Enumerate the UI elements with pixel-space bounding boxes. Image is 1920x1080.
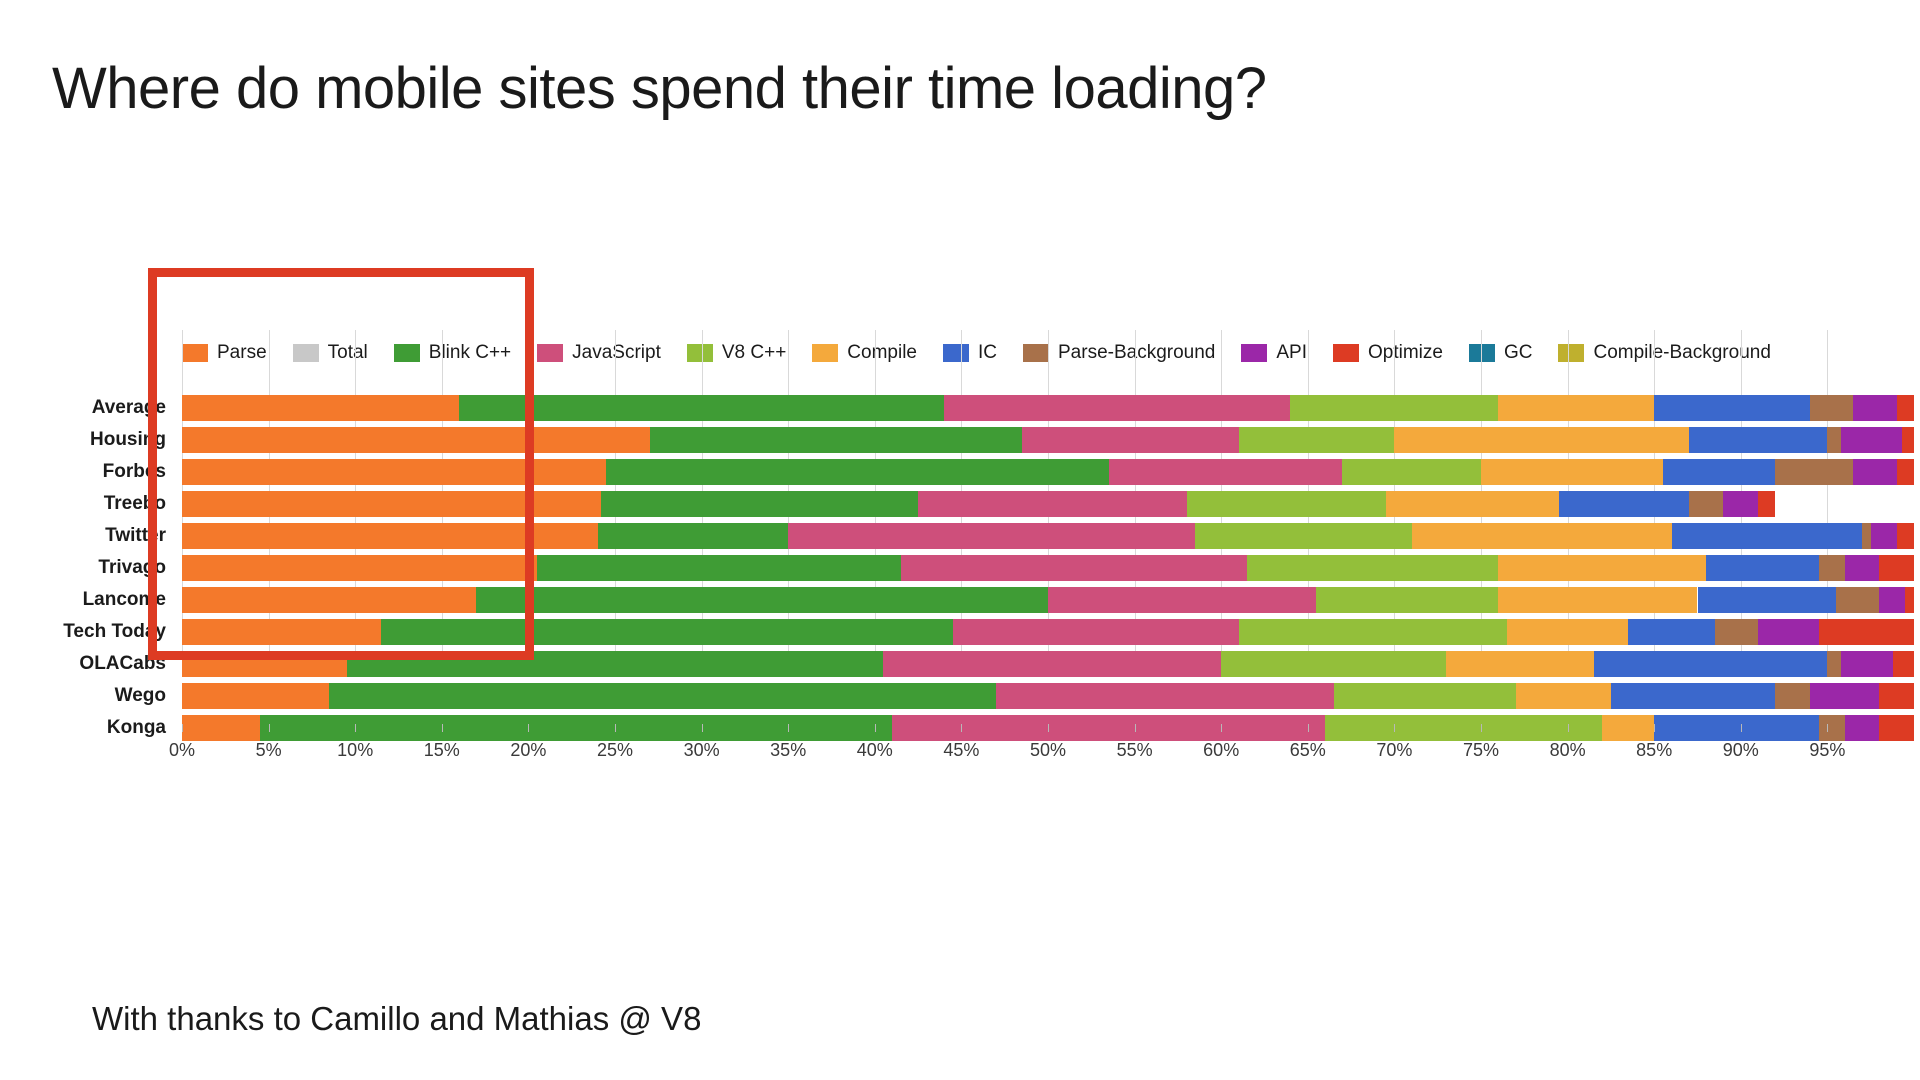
bar-segment bbox=[1481, 459, 1663, 485]
bar-segment bbox=[1775, 459, 1853, 485]
bar-segment bbox=[788, 523, 1195, 549]
x-axis-tick-mark bbox=[442, 724, 443, 732]
bar-segment bbox=[1879, 683, 1914, 709]
stacked-bar bbox=[182, 683, 1914, 709]
y-axis-tick-label: Forbes bbox=[0, 456, 178, 488]
bar-segment bbox=[1048, 587, 1316, 613]
bar-row bbox=[182, 648, 1914, 680]
stacked-bar bbox=[182, 587, 1914, 613]
x-axis-tick-mark bbox=[961, 724, 962, 732]
bar-segment bbox=[1446, 651, 1593, 677]
bar-segment bbox=[1871, 523, 1897, 549]
bar-segment bbox=[182, 523, 598, 549]
bar-segment bbox=[953, 619, 1239, 645]
bar-segment bbox=[883, 651, 1221, 677]
x-axis-tick-label: 75% bbox=[1463, 740, 1499, 761]
bar-row bbox=[182, 488, 1914, 520]
bar-segment bbox=[918, 491, 1186, 517]
x-axis-tick-mark bbox=[875, 724, 876, 732]
page-title: Where do mobile sites spend their time l… bbox=[52, 55, 1267, 122]
bar-segment bbox=[1221, 651, 1446, 677]
bar-segment bbox=[1841, 651, 1893, 677]
bar-row bbox=[182, 552, 1914, 584]
x-axis-tick-label: 10% bbox=[337, 740, 373, 761]
stacked-bar bbox=[182, 459, 1914, 485]
bar-segment bbox=[650, 427, 1022, 453]
y-axis-tick-label: Wego bbox=[0, 680, 178, 712]
y-axis-labels: AverageHousingForbesTreeboTwitterTrivago… bbox=[0, 392, 178, 744]
x-axis-tick-label: 5% bbox=[256, 740, 282, 761]
bar-segment bbox=[601, 491, 918, 517]
x-axis-tick-label: 95% bbox=[1809, 740, 1845, 761]
bar-segment bbox=[1879, 555, 1914, 581]
bar-row bbox=[182, 392, 1914, 424]
bar-segment bbox=[182, 555, 537, 581]
stacked-bar bbox=[182, 491, 1914, 517]
x-axis-tick-mark bbox=[269, 724, 270, 732]
stacked-bar bbox=[182, 427, 1914, 453]
bar-segment bbox=[1715, 619, 1758, 645]
bar-segment bbox=[1698, 587, 1837, 613]
bar-segment bbox=[1316, 587, 1498, 613]
bar-segment bbox=[1836, 587, 1879, 613]
bar-segment bbox=[182, 491, 601, 517]
stacked-bar bbox=[182, 619, 1914, 645]
bar-segment bbox=[1723, 491, 1758, 517]
bar-segment bbox=[1905, 587, 1914, 613]
bar-segment bbox=[1827, 427, 1841, 453]
x-axis-tick-label: 70% bbox=[1376, 740, 1412, 761]
bar-segment bbox=[182, 427, 650, 453]
x-axis-tick-label: 0% bbox=[169, 740, 195, 761]
bar-row bbox=[182, 456, 1914, 488]
bar-segment bbox=[1498, 395, 1654, 421]
bar-segment bbox=[1507, 619, 1628, 645]
bar-segment bbox=[996, 683, 1334, 709]
bar-segment bbox=[329, 683, 996, 709]
bar-rows bbox=[182, 392, 1914, 744]
y-axis-tick-label: Housing bbox=[0, 424, 178, 456]
y-axis-tick-label: OLACabs bbox=[0, 648, 178, 680]
x-axis-tick-mark bbox=[1308, 724, 1309, 732]
bar-segment bbox=[1810, 683, 1879, 709]
bar-row bbox=[182, 584, 1914, 616]
x-axis-tick-mark bbox=[1394, 724, 1395, 732]
x-axis-tick-label: 80% bbox=[1550, 740, 1586, 761]
bar-segment bbox=[1827, 651, 1841, 677]
bar-segment bbox=[901, 555, 1247, 581]
bar-segment bbox=[459, 395, 944, 421]
bar-segment bbox=[1897, 395, 1914, 421]
bar-segment bbox=[1758, 491, 1775, 517]
bar-row bbox=[182, 424, 1914, 456]
bar-segment bbox=[1689, 491, 1724, 517]
bar-segment bbox=[1342, 459, 1481, 485]
x-axis-tick-mark bbox=[1568, 724, 1569, 732]
bar-segment bbox=[1897, 459, 1914, 485]
bar-row bbox=[182, 616, 1914, 648]
y-axis-tick-label: Average bbox=[0, 392, 178, 424]
bar-segment bbox=[1819, 555, 1845, 581]
stacked-bar bbox=[182, 651, 1914, 677]
x-axis-tick-mark bbox=[1827, 724, 1828, 732]
x-axis-tick-mark bbox=[1135, 724, 1136, 732]
bar-segment bbox=[1853, 459, 1896, 485]
stacked-bar bbox=[182, 555, 1914, 581]
bar-segment bbox=[1810, 395, 1853, 421]
bar-segment bbox=[182, 651, 347, 677]
bar-segment bbox=[182, 587, 476, 613]
y-axis-tick-label: Treebo bbox=[0, 488, 178, 520]
x-axis-tick-mark bbox=[1221, 724, 1222, 732]
footer-credit: With thanks to Camillo and Mathias @ V8 bbox=[92, 1000, 701, 1038]
x-axis-tick-label: 85% bbox=[1636, 740, 1672, 761]
bar-segment bbox=[944, 395, 1290, 421]
y-axis-tick-label: Trivago bbox=[0, 552, 178, 584]
bar-segment bbox=[1689, 427, 1828, 453]
x-axis-tick-mark bbox=[1481, 724, 1482, 732]
bar-segment bbox=[476, 587, 1048, 613]
bar-segment bbox=[381, 619, 953, 645]
x-axis-tick-label: 45% bbox=[943, 740, 979, 761]
bar-segment bbox=[1109, 459, 1343, 485]
bar-segment bbox=[1758, 619, 1819, 645]
bar-segment bbox=[1412, 523, 1672, 549]
y-axis-tick-label: Lancome bbox=[0, 584, 178, 616]
bar-segment bbox=[1628, 619, 1715, 645]
x-axis: 0%5%10%15%20%25%30%35%40%45%50%55%60%65%… bbox=[182, 732, 1914, 772]
x-axis-tick-mark bbox=[1048, 724, 1049, 732]
stacked-bar-chart: ParseTotalBlink C++JavaScriptV8 C++Compi… bbox=[0, 330, 1920, 770]
bar-row bbox=[182, 520, 1914, 552]
bar-segment bbox=[1893, 651, 1914, 677]
bar-segment bbox=[1879, 587, 1905, 613]
x-axis-tick-label: 20% bbox=[510, 740, 546, 761]
bar-segment bbox=[1706, 555, 1819, 581]
bar-segment bbox=[1862, 523, 1871, 549]
x-axis-tick-label: 90% bbox=[1723, 740, 1759, 761]
bar-segment bbox=[347, 651, 884, 677]
x-axis-tick-mark bbox=[702, 724, 703, 732]
bar-segment bbox=[1559, 491, 1689, 517]
y-axis-tick-label: Twitter bbox=[0, 520, 178, 552]
bar-segment bbox=[1386, 491, 1559, 517]
x-axis-tick-label: 40% bbox=[857, 740, 893, 761]
bar-segment bbox=[1195, 523, 1412, 549]
bar-segment bbox=[1902, 427, 1914, 453]
bar-segment bbox=[1498, 555, 1706, 581]
x-axis-tick-mark bbox=[355, 724, 356, 732]
bar-segment bbox=[1654, 395, 1810, 421]
x-axis-tick-label: 15% bbox=[424, 740, 460, 761]
plot-area bbox=[182, 330, 1914, 730]
bar-segment bbox=[1247, 555, 1498, 581]
bar-segment bbox=[1853, 395, 1896, 421]
bar-segment bbox=[1841, 427, 1902, 453]
x-axis-tick-label: 25% bbox=[597, 740, 633, 761]
bar-segment bbox=[1498, 587, 1697, 613]
x-axis-tick-label: 30% bbox=[684, 740, 720, 761]
bar-segment bbox=[1897, 523, 1914, 549]
bar-segment bbox=[1022, 427, 1239, 453]
stacked-bar bbox=[182, 523, 1914, 549]
x-axis-tick-label: 60% bbox=[1203, 740, 1239, 761]
bar-segment bbox=[598, 523, 789, 549]
bar-segment bbox=[1516, 683, 1611, 709]
bar-segment bbox=[1334, 683, 1516, 709]
x-axis-tick-mark bbox=[182, 724, 183, 732]
bar-segment bbox=[1239, 619, 1507, 645]
x-axis-tick-mark bbox=[1741, 724, 1742, 732]
bar-segment bbox=[1290, 395, 1498, 421]
y-axis-tick-label: Tech Today bbox=[0, 616, 178, 648]
x-axis-tick-label: 50% bbox=[1030, 740, 1066, 761]
bar-segment bbox=[1594, 651, 1828, 677]
bar-segment bbox=[182, 459, 606, 485]
x-axis-tick-label: 55% bbox=[1117, 740, 1153, 761]
bar-segment bbox=[1775, 683, 1810, 709]
bar-segment bbox=[182, 683, 329, 709]
bar-segment bbox=[1187, 491, 1386, 517]
x-axis-tick-mark bbox=[1654, 724, 1655, 732]
x-axis-tick-mark bbox=[788, 724, 789, 732]
x-axis-tick-label: 35% bbox=[770, 740, 806, 761]
x-axis-tick-label: 65% bbox=[1290, 740, 1326, 761]
bar-segment bbox=[537, 555, 901, 581]
bar-segment bbox=[1394, 427, 1688, 453]
x-axis-tick-mark bbox=[615, 724, 616, 732]
bar-segment bbox=[1845, 555, 1880, 581]
bar-segment bbox=[182, 619, 381, 645]
bar-segment bbox=[1672, 523, 1863, 549]
bar-segment bbox=[1819, 619, 1914, 645]
stacked-bar bbox=[182, 395, 1914, 421]
x-axis-tick-mark bbox=[528, 724, 529, 732]
y-axis-tick-label: Konga bbox=[0, 712, 178, 744]
bar-segment bbox=[606, 459, 1108, 485]
bar-segment bbox=[182, 395, 459, 421]
bar-row bbox=[182, 680, 1914, 712]
bar-segment bbox=[1239, 427, 1395, 453]
bar-segment bbox=[1663, 459, 1776, 485]
bar-segment bbox=[1611, 683, 1776, 709]
